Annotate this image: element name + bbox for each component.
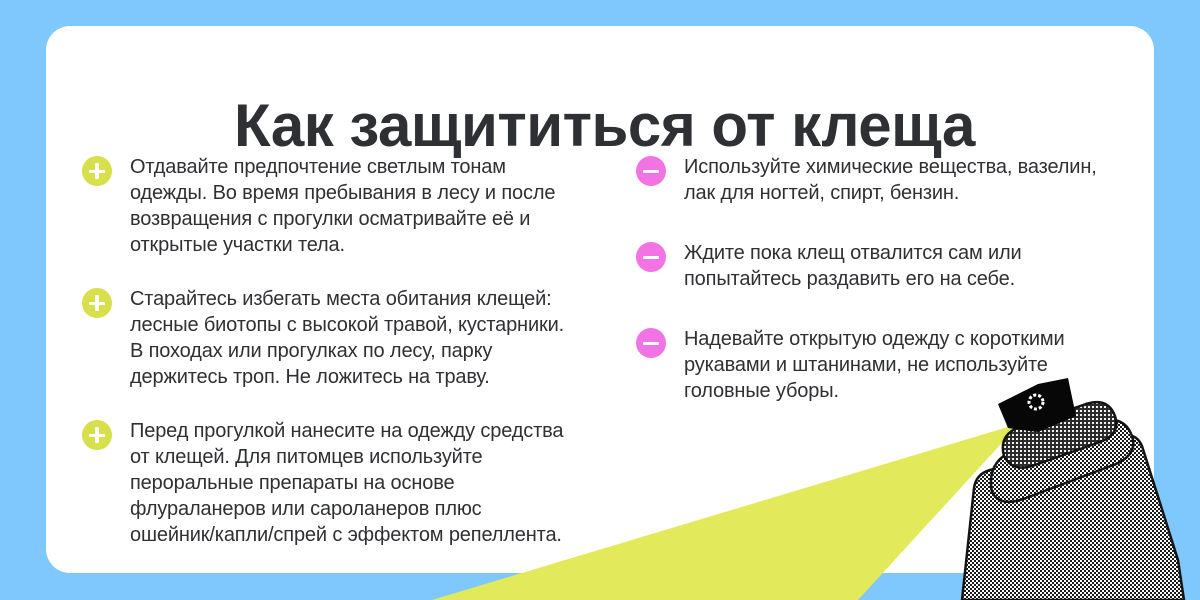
list-item-label: Используйте химические вещества, вазелин… xyxy=(684,154,1154,206)
minus-icon xyxy=(636,156,666,186)
list-item-label: Ждите пока клещ отвалится сам или попыта… xyxy=(684,240,1154,292)
do-list-column: Отдавайте предпочтение светлым тонам оде… xyxy=(82,154,622,573)
content-card: Как защититься от клеща Отдавайте предпо… xyxy=(46,26,1154,573)
list-item: Отдавайте предпочтение светлым тонам оде… xyxy=(82,154,622,258)
minus-icon xyxy=(636,242,666,272)
list-item: Используйте химические вещества, вазелин… xyxy=(636,154,1154,206)
plus-icon xyxy=(82,156,112,186)
list-item-label: Отдавайте предпочтение светлым тонам оде… xyxy=(130,154,622,258)
list-item: Старайтесь избегать места обитания клеще… xyxy=(82,286,622,390)
minus-icon xyxy=(636,328,666,358)
list-item-label: Перед прогулкой нанесите на одежду средс… xyxy=(130,418,622,548)
list-item: Ждите пока клещ отвалится сам или попыта… xyxy=(636,240,1154,292)
list-item-label: Надевайте открытую одежду с короткими ру… xyxy=(684,326,1154,404)
list-item: Перед прогулкой нанесите на одежду средс… xyxy=(82,418,622,548)
page-title: Как защититься от клеща xyxy=(234,94,1154,158)
list-item: Надевайте открытую одежду с короткими ру… xyxy=(636,326,1154,404)
plus-icon xyxy=(82,288,112,318)
infographic-poster: Как защититься от клеща Отдавайте предпо… xyxy=(0,0,1200,600)
dont-list-column: Используйте химические вещества, вазелин… xyxy=(636,154,1154,438)
list-item-label: Старайтесь избегать места обитания клеще… xyxy=(130,286,622,390)
plus-icon xyxy=(82,420,112,450)
